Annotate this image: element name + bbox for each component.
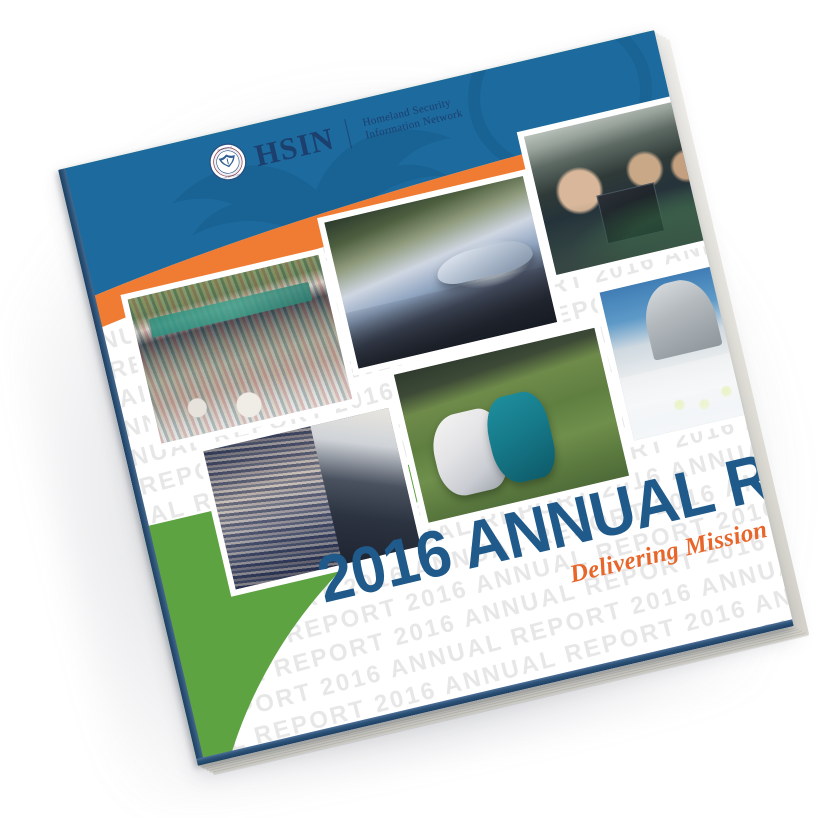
photo-autoshow xyxy=(324,176,557,369)
logo-divider xyxy=(344,119,352,149)
photo-autoshow-image xyxy=(324,176,557,369)
photo-racetrack-image xyxy=(128,255,353,444)
report-cover-scene: 2016 ANNUAL REPORT 2016 ANNUAL REPORT 20… xyxy=(0,0,820,786)
photo-racetrack xyxy=(128,255,353,444)
